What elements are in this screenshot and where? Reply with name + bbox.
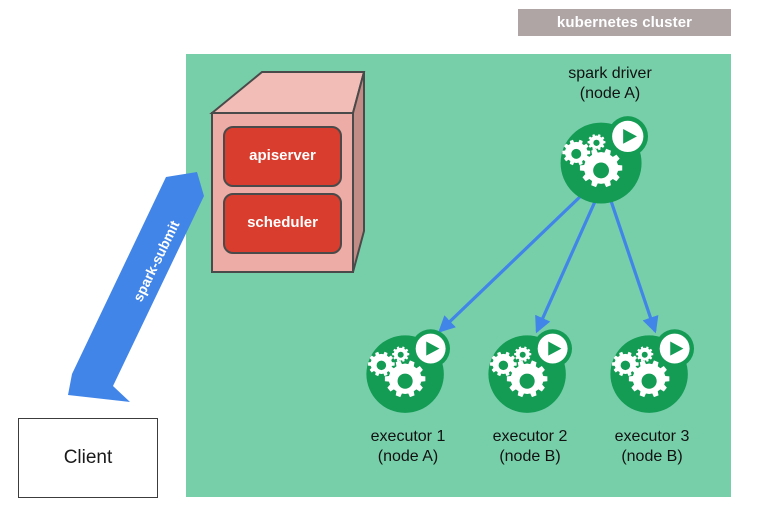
executor-3-label: executor 3 (node B)	[583, 427, 721, 467]
diagram-canvas: kubernetes cluster spark-submit Client a…	[0, 0, 761, 516]
